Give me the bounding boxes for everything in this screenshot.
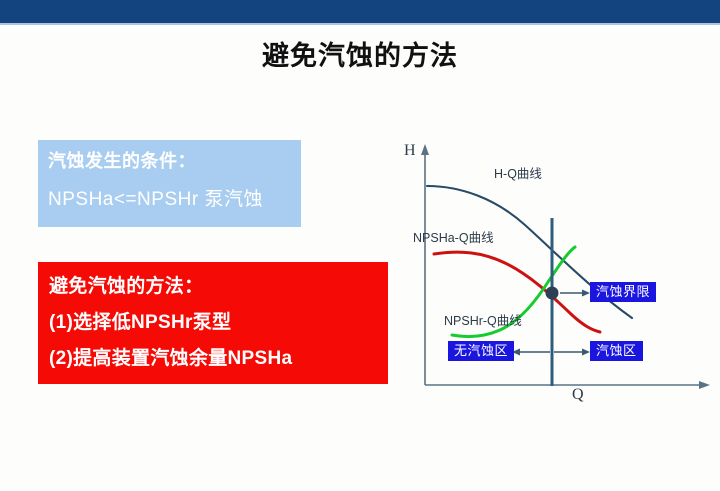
y-axis-label: H <box>404 142 416 160</box>
cavitation-zone-tag: 汽蚀区 <box>590 341 643 361</box>
slide-canvas: 避免汽蚀的方法 汽蚀发生的条件： NPSHa<=NPSHr 泵汽蚀 避免汽蚀的方… <box>0 0 720 491</box>
npshr-curve-label: NPSHr-Q曲线 <box>444 310 522 329</box>
no-cavitation-zone-tag: 无汽蚀区 <box>448 341 514 361</box>
condition-formula: NPSHa<=NPSHr 泵汽蚀 <box>48 188 301 212</box>
npsha-curve-label: NPSHa-Q曲线 <box>413 227 494 246</box>
method-box: 避免汽蚀的方法： (1)选择低NPSHr泵型 (2)提高装置汽蚀余量NPSHa <box>38 262 388 384</box>
y-axis-arrow-icon <box>421 144 429 155</box>
page-title: 避免汽蚀的方法 <box>0 34 720 73</box>
cavitation-chart: H Q H-Q曲线 NPSHa-Q曲线 NPSHr-Q曲线 汽蚀界限 无汽蚀区 … <box>400 130 715 405</box>
header-bar <box>0 0 720 23</box>
method-title: 避免汽蚀的方法： <box>49 269 388 305</box>
condition-title: 汽蚀发生的条件： <box>48 149 301 173</box>
hq-curve-label: H-Q曲线 <box>494 163 542 182</box>
cavitation-limit-tag: 汽蚀界限 <box>590 282 656 302</box>
chart-svg <box>400 130 715 405</box>
method-item-2: (2)提高装置汽蚀余量NPSHa <box>49 341 388 377</box>
header-underline <box>0 23 720 25</box>
x-axis-arrow-icon <box>699 381 710 389</box>
limit-arrow-head-icon <box>582 290 590 297</box>
condition-box: 汽蚀发生的条件： NPSHa<=NPSHr 泵汽蚀 <box>38 140 301 227</box>
intersection-marker <box>546 287 559 300</box>
x-axis-label: Q <box>572 386 584 404</box>
method-item-1: (1)选择低NPSHr泵型 <box>49 305 388 341</box>
right-zone-arrow-head-icon <box>582 349 590 356</box>
